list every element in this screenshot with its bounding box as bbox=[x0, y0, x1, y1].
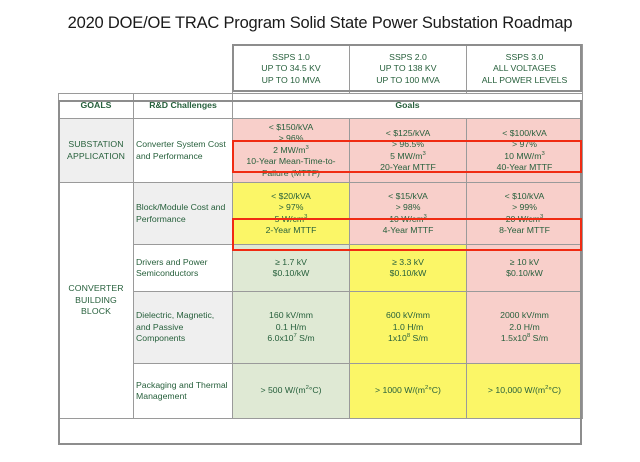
value-line: > 96.5% bbox=[352, 139, 464, 150]
header-version-3: SSPS 3.0ALL VOLTAGESALL POWER LEVELS bbox=[467, 45, 583, 94]
value-line: > 99% bbox=[469, 202, 580, 213]
value-line: 10 MW/m3 bbox=[469, 151, 580, 162]
value-line: 2.0 H/m bbox=[469, 322, 580, 333]
header-version-2: SSPS 2.0UP TO 138 KVUP TO 100 MVA bbox=[350, 45, 467, 94]
value-line: 4-Year MTTF bbox=[352, 225, 464, 236]
value-line: 1.5x108 S/m bbox=[469, 333, 580, 344]
value-cell-r1-c1: < $150/kVA> 96%2 MW/m310-Year Mean-Time-… bbox=[233, 119, 350, 183]
value-cell-r4-c2: 600 kV/mm1.0 H/m1x108 S/m bbox=[350, 292, 467, 364]
value-line: > 1000 W/(m2°C) bbox=[352, 385, 464, 396]
table-row: CONVERTER BUILDING BLOCKBlock/Module Cos… bbox=[59, 183, 583, 245]
value-cell-r5-c2: > 1000 W/(m2°C) bbox=[350, 364, 467, 419]
header-goals-label: GOALS bbox=[59, 94, 134, 119]
value-cell-r5-c1: > 500 W/(m2°C) bbox=[233, 364, 350, 419]
header-goals-span-label: Goals bbox=[233, 94, 583, 119]
value-line: 0.1 H/m bbox=[235, 322, 347, 333]
value-line: 2-Year MTTF bbox=[235, 225, 347, 236]
header-version-1: SSPS 1.0UP TO 34.5 KVUP TO 10 MVA bbox=[233, 45, 350, 94]
group-label-2: CONVERTER BUILDING BLOCK bbox=[59, 183, 134, 419]
value-line: $0.10/kW bbox=[352, 268, 464, 279]
value-line: 5 W/cm3 bbox=[235, 214, 347, 225]
value-cell-r5-c3: > 10,000 W/(m2°C) bbox=[467, 364, 583, 419]
value-cell-r1-c2: < $125/kVA> 96.5%5 MW/m320-Year MTTF bbox=[350, 119, 467, 183]
value-line: 40-Year MTTF bbox=[469, 162, 580, 173]
value-line: 5 MW/m3 bbox=[352, 151, 464, 162]
header-version-name: SSPS 1.0 bbox=[235, 52, 347, 63]
value-cell-r3-c2: ≥ 3.3 kV$0.10/kW bbox=[350, 245, 467, 292]
value-cell-r2-c3: < $10/kVA> 99%20 W/cm38-Year MTTF bbox=[467, 183, 583, 245]
header-version-name: SSPS 2.0 bbox=[352, 52, 464, 63]
header-blank-left bbox=[59, 45, 233, 94]
table-row: Dielectric, Magnetic, and Passive Compon… bbox=[59, 292, 583, 364]
page-title: 2020 DOE/OE TRAC Program Solid State Pow… bbox=[0, 14, 640, 33]
challenge-label-2: Block/Module Cost and Performance bbox=[134, 183, 233, 245]
value-cell-r1-c3: < $100/kVA> 97%10 MW/m340-Year MTTF bbox=[467, 119, 583, 183]
header-version-power: ALL POWER LEVELS bbox=[469, 75, 580, 86]
value-line: 2 MW/m3 bbox=[235, 145, 347, 156]
value-line: ≥ 1.7 kV bbox=[235, 257, 347, 268]
header-version-power: UP TO 100 MVA bbox=[352, 75, 464, 86]
value-cell-r4-c1: 160 kV/mm0.1 H/m6.0x107 S/m bbox=[233, 292, 350, 364]
value-line: > 97% bbox=[469, 139, 580, 150]
value-line: < $125/kVA bbox=[352, 128, 464, 139]
header-version-voltage: ALL VOLTAGES bbox=[469, 63, 580, 74]
value-line: < $150/kVA bbox=[235, 122, 347, 133]
table-row: Packaging and Thermal Management> 500 W/… bbox=[59, 364, 583, 419]
value-line: 20-Year MTTF bbox=[352, 162, 464, 173]
header-version-name: SSPS 3.0 bbox=[469, 52, 580, 63]
challenge-label-1: Converter System Cost and Performance bbox=[134, 119, 233, 183]
value-line: 2000 kV/mm bbox=[469, 310, 580, 321]
value-line: 1.0 H/m bbox=[352, 322, 464, 333]
value-cell-r2-c1: < $20/kVA> 97%5 W/cm32-Year MTTF bbox=[233, 183, 350, 245]
value-line: 10-Year Mean-Time-to-Failure (MTTF) bbox=[235, 156, 347, 179]
value-line: 6.0x107 S/m bbox=[235, 333, 347, 344]
value-line: 1x108 S/m bbox=[352, 333, 464, 344]
challenge-label-3: Drivers and Power Semiconductors bbox=[134, 245, 233, 292]
value-line: $0.10/kW bbox=[235, 268, 347, 279]
group-label-1: SUBSTATION APPLICATION bbox=[59, 119, 134, 183]
value-line: > 10,000 W/(m2°C) bbox=[469, 385, 580, 396]
header-version-voltage: UP TO 34.5 KV bbox=[235, 63, 347, 74]
value-line: ≥ 3.3 kV bbox=[352, 257, 464, 268]
value-cell-r3-c3: ≥ 10 kV$0.10/kW bbox=[467, 245, 583, 292]
value-line: ≥ 10 kV bbox=[469, 257, 580, 268]
value-line: 10 W/cm3 bbox=[352, 214, 464, 225]
header-version-voltage: UP TO 138 KV bbox=[352, 63, 464, 74]
table-row: SUBSTATION APPLICATIONConverter System C… bbox=[59, 119, 583, 183]
value-line: > 98% bbox=[352, 202, 464, 213]
challenge-label-4: Dielectric, Magnetic, and Passive Compon… bbox=[134, 292, 233, 364]
value-line: < $100/kVA bbox=[469, 128, 580, 139]
roadmap-page: 2020 DOE/OE TRAC Program Solid State Pow… bbox=[0, 0, 640, 462]
value-cell-r4-c3: 2000 kV/mm2.0 H/m1.5x108 S/m bbox=[467, 292, 583, 364]
value-line: 160 kV/mm bbox=[235, 310, 347, 321]
value-line: 600 kV/mm bbox=[352, 310, 464, 321]
value-line: < $10/kVA bbox=[469, 191, 580, 202]
header-row-versions: SSPS 1.0UP TO 34.5 KVUP TO 10 MVASSPS 2.… bbox=[59, 45, 583, 94]
value-line: > 500 W/(m2°C) bbox=[235, 385, 347, 396]
value-line: 20 W/cm3 bbox=[469, 214, 580, 225]
table-row: Drivers and Power Semiconductors≥ 1.7 kV… bbox=[59, 245, 583, 292]
challenge-label-5: Packaging and Thermal Management bbox=[134, 364, 233, 419]
value-line: < $20/kVA bbox=[235, 191, 347, 202]
value-cell-r2-c2: < $15/kVA> 98%10 W/cm34-Year MTTF bbox=[350, 183, 467, 245]
value-line: < $15/kVA bbox=[352, 191, 464, 202]
value-line: $0.10/kW bbox=[469, 268, 580, 279]
value-line: 8-Year MTTF bbox=[469, 225, 580, 236]
header-version-power: UP TO 10 MVA bbox=[235, 75, 347, 86]
value-cell-r3-c1: ≥ 1.7 kV$0.10/kW bbox=[233, 245, 350, 292]
header-rd-challenges-label: R&D Challenges bbox=[134, 94, 233, 119]
value-line: > 97% bbox=[235, 202, 347, 213]
value-line: > 96% bbox=[235, 133, 347, 144]
roadmap-table: SSPS 1.0UP TO 34.5 KVUP TO 10 MVASSPS 2.… bbox=[58, 44, 583, 419]
header-row-labels: GOALSR&D ChallengesGoals bbox=[59, 94, 583, 119]
